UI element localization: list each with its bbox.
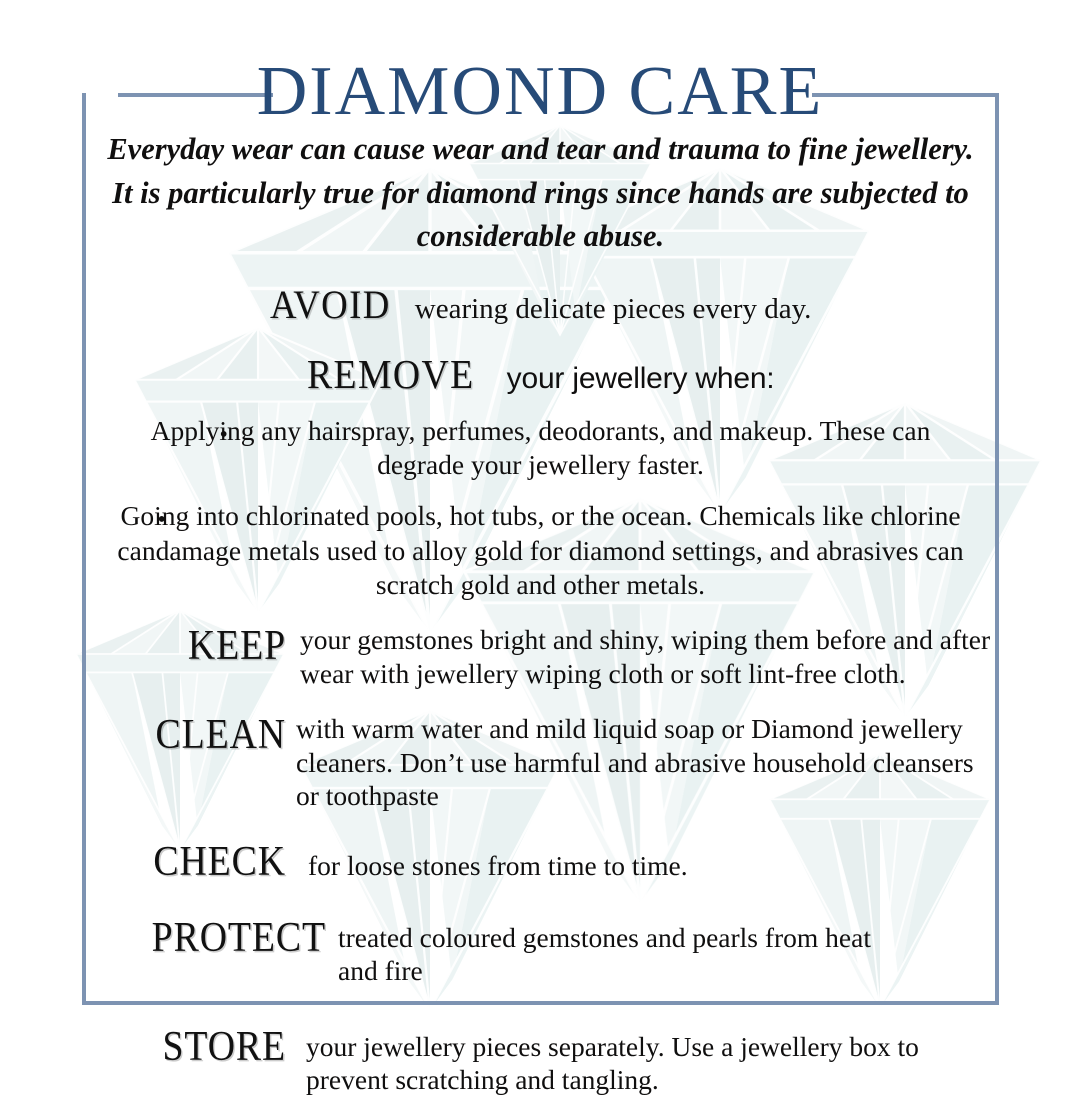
list-item-text: Applying any hairspray, perfumes, deodor… <box>146 414 936 483</box>
remove-text: your jewellery when: <box>507 362 775 395</box>
intro-paragraph: Everyday wear can cause wear and tear an… <box>101 128 981 259</box>
care-row-keep: KEEP your gemstones bright and shiny, wi… <box>86 623 995 690</box>
list-item-text: Going into chlorinated pools, hot tubs, … <box>116 499 966 603</box>
remove-bullet-list: • Applying any hairspray, perfumes, deod… <box>86 414 995 603</box>
care-label-store: STORE <box>106 1024 286 1068</box>
care-text-check: for loose stones from time to time. <box>308 839 995 883</box>
remove-label: REMOVE <box>307 350 475 398</box>
page-title: DIAMOND CARE <box>0 57 1080 127</box>
list-item: • Going into chlorinated pools, hot tubs… <box>116 499 966 603</box>
care-row-check: CHECK for loose stones from time to time… <box>86 839 995 883</box>
remove-row: REMOVEyour jewellery when: <box>86 350 995 398</box>
avoid-row: AVOIDwearing delicate pieces every day. <box>86 281 995 328</box>
avoid-text: wearing delicate pieces every day. <box>415 293 812 325</box>
frame-right-edge <box>995 93 999 1005</box>
care-row-store: STORE your jewellery pieces separately. … <box>86 1024 995 1097</box>
avoid-label: AVOID <box>270 281 391 328</box>
diamond-care-poster: DIAMOND CARE Everyday wear can cause wea… <box>0 0 1080 1080</box>
list-item: • Applying any hairspray, perfumes, deod… <box>146 414 936 483</box>
care-text-keep: your gemstones bright and shiny, wiping … <box>300 623 995 690</box>
care-text-store: your jewellery pieces separately. Use a … <box>306 1024 995 1097</box>
care-label-keep: KEEP <box>106 623 286 667</box>
care-label-check: CHECK <box>106 839 286 883</box>
care-row-clean: CLEAN with warm water and mild liquid so… <box>86 712 995 813</box>
care-text-protect: treated coloured gemstones and pearls fr… <box>338 915 898 988</box>
care-row-protect: PROTECT treated coloured gemstones and p… <box>86 915 995 988</box>
content-column: Everyday wear can cause wear and tear an… <box>86 128 995 1097</box>
bullet-dot-icon: • <box>158 508 166 532</box>
care-label-clean: CLEAN <box>106 712 286 756</box>
bullet-dot-icon: • <box>220 423 228 447</box>
care-text-clean: with warm water and mild liquid soap or … <box>296 712 995 813</box>
care-label-protect: PROTECT <box>110 915 326 959</box>
